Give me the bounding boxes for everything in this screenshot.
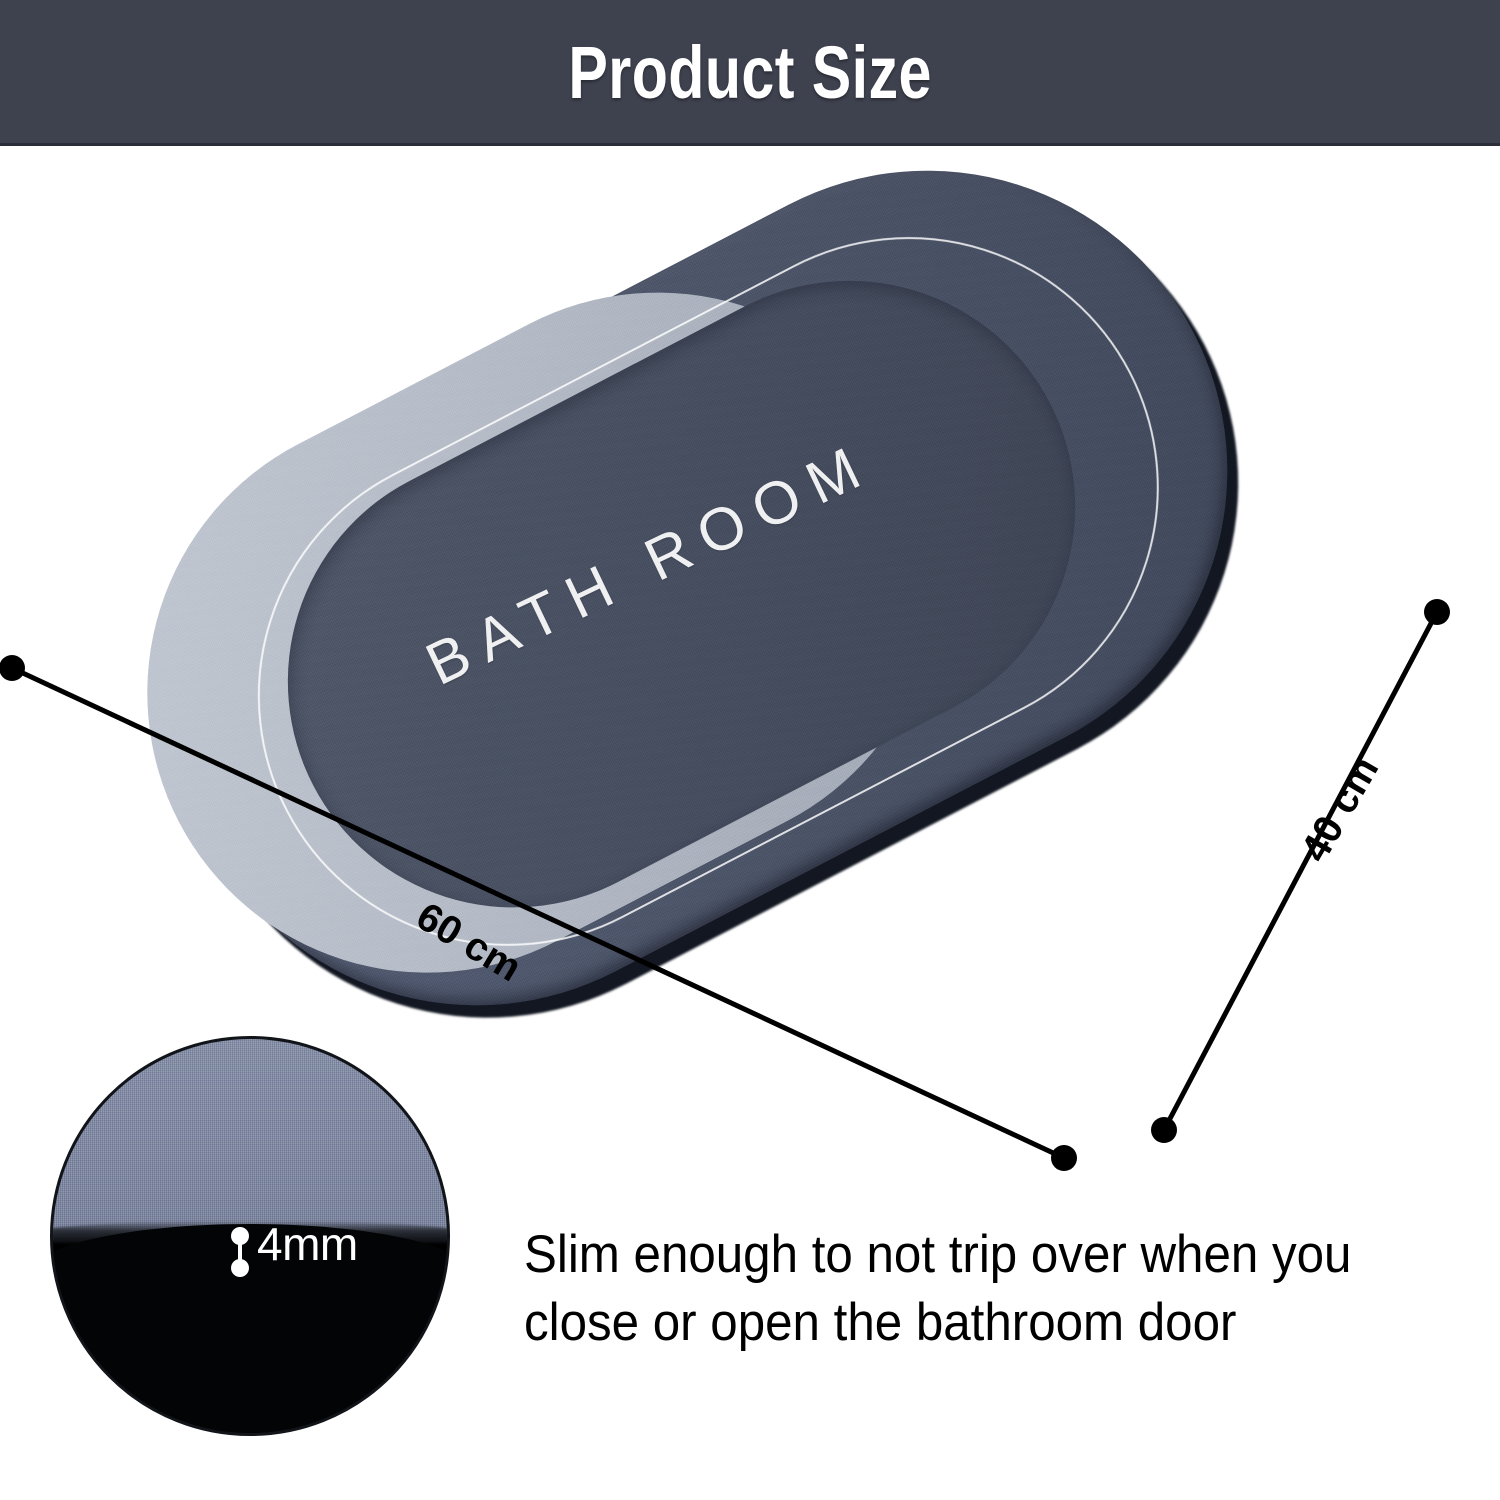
dimension-label-width: 40 cm	[1293, 749, 1389, 870]
detail-fabric-surface	[53, 1039, 447, 1240]
thickness-detail-circle: 4mm	[50, 1036, 450, 1436]
marker-dot-top	[231, 1227, 249, 1245]
thickness-label: 4mm	[257, 1217, 358, 1271]
fabric-texture-overlay	[53, 1039, 447, 1240]
dot-marker-width-end	[1151, 1117, 1177, 1143]
product-illustration-stage: BATH ROOM 60 cm 40 cm 4mm Slim enough to…	[0, 146, 1500, 1500]
page-title: Product Size	[568, 36, 931, 110]
marker-dot-bottom	[231, 1259, 249, 1277]
dot-marker-length-start	[0, 655, 25, 681]
dumbbell-marker-icon	[229, 1227, 251, 1277]
bath-mat-illustration: BATH ROOM	[72, 66, 1332, 1110]
feature-caption: Slim enough to not trip over when you cl…	[524, 1221, 1389, 1357]
feature-caption-line-1: Slim enough to not trip over when you	[524, 1221, 1389, 1289]
feature-caption-line-2: close or open the bathroom door	[524, 1289, 1389, 1357]
dimension-line-width	[1164, 612, 1437, 1130]
dot-marker-length-end	[1051, 1145, 1077, 1171]
header-bar: Product Size	[0, 0, 1500, 146]
dot-marker-width-start	[1424, 599, 1450, 625]
